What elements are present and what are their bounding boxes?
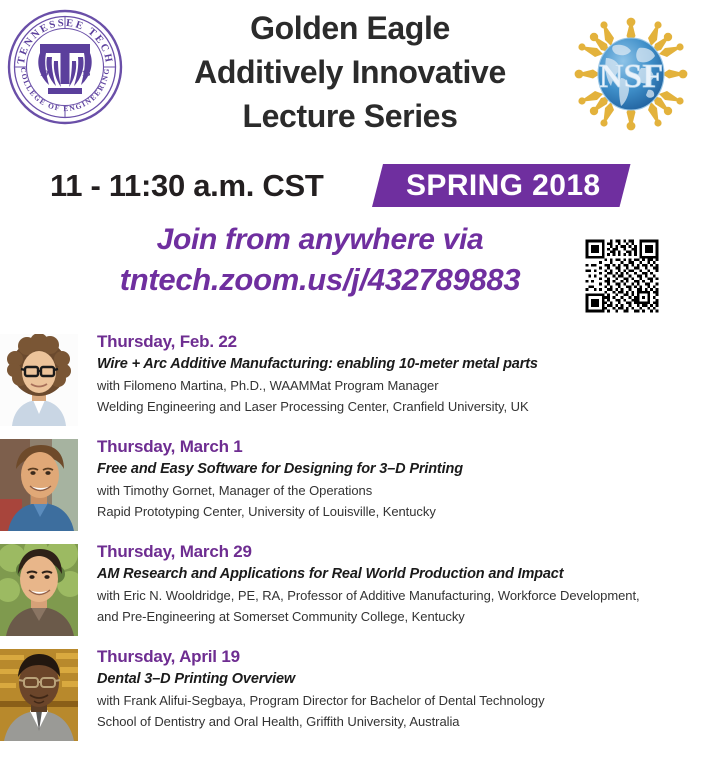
speaker-affiliation-line-1: with Timothy Gornet, Manager of the Oper… xyxy=(97,480,697,501)
title-line-1: Golden Eagle xyxy=(130,6,570,50)
speaker-affiliation-line-2: School of Dentistry and Oral Health, Gri… xyxy=(97,711,697,732)
avatar xyxy=(0,334,78,426)
speaker-details: Thursday, Feb. 22 Wire + Arc Additive Ma… xyxy=(97,330,697,417)
speaker-list: Thursday, Feb. 22 Wire + Arc Additive Ma… xyxy=(0,330,710,750)
speaker-affiliation-line-1: with Filomeno Martina, Ph.D., WAAMMat Pr… xyxy=(97,375,697,396)
title-line-2: Additively Innovative xyxy=(130,50,570,94)
season-badge-label: SPRING 2018 xyxy=(406,169,601,203)
speaker-affiliation-line-2: and Pre-Engineering at Somerset Communit… xyxy=(97,606,697,627)
list-item: Thursday, Feb. 22 Wire + Arc Additive Ma… xyxy=(0,330,710,435)
speaker-affiliation-line-1: with Frank Alifui-Segbaya, Program Direc… xyxy=(97,690,697,711)
speaker-date: Thursday, March 1 xyxy=(97,435,697,458)
list-item: Thursday, April 19 Dental 3–D Printing O… xyxy=(0,645,710,750)
nsf-logo-icon: NSF xyxy=(573,16,689,132)
title-line-3: Lecture Series xyxy=(130,94,570,138)
avatar xyxy=(0,544,78,636)
avatar xyxy=(0,649,78,741)
list-item: Thursday, March 29 AM Research and Appli… xyxy=(0,540,710,645)
speaker-affiliation-line-2: Welding Engineering and Laser Processing… xyxy=(97,396,697,417)
svg-text:19: 19 xyxy=(40,68,49,78)
speaker-affiliation-line-1: with Eric N. Wooldridge, PE, RA, Profess… xyxy=(97,585,697,606)
poster-header: TENNESSEE TECH COLLEGE OF ENGINEERING 19… xyxy=(0,0,710,158)
speaker-topic: AM Research and Applications for Real Wo… xyxy=(97,563,697,585)
join-instructions: Join from anywhere via tntech.zoom.us/j/… xyxy=(70,220,570,300)
speaker-details: Thursday, April 19 Dental 3–D Printing O… xyxy=(97,645,697,732)
speaker-topic: Dental 3–D Printing Overview xyxy=(97,668,697,690)
tennessee-tech-seal-icon: TENNESSEE TECH COLLEGE OF ENGINEERING 19… xyxy=(6,8,124,126)
zoom-link[interactable]: tntech.zoom.us/j/432789883 xyxy=(70,260,570,300)
season-badge: SPRING 2018 xyxy=(372,164,631,207)
lecture-time: 11 - 11:30 a.m. CST xyxy=(50,166,323,206)
avatar xyxy=(0,439,78,531)
speaker-affiliation-line-2: Rapid Prototyping Center, University of … xyxy=(97,501,697,522)
time-row: 11 - 11:30 a.m. CST SPRING 2018 xyxy=(0,158,710,220)
speaker-details: Thursday, March 1 Free and Easy Software… xyxy=(97,435,697,522)
poster-title: Golden Eagle Additively Innovative Lectu… xyxy=(130,6,570,138)
speaker-date: Thursday, March 29 xyxy=(97,540,697,563)
list-item: Thursday, March 1 Free and Easy Software… xyxy=(0,435,710,540)
speaker-details: Thursday, March 29 AM Research and Appli… xyxy=(97,540,697,627)
svg-text:16: 16 xyxy=(82,68,91,78)
speaker-date: Thursday, Feb. 22 xyxy=(97,330,697,353)
speaker-topic: Free and Easy Software for Designing for… xyxy=(97,458,697,480)
qr-code[interactable] xyxy=(583,237,661,315)
speaker-date: Thursday, April 19 xyxy=(97,645,697,668)
join-line-1: Join from anywhere via xyxy=(70,220,570,260)
nsf-letters: NSF xyxy=(599,58,663,95)
speaker-topic: Wire + Arc Additive Manufacturing: enabl… xyxy=(97,353,697,375)
